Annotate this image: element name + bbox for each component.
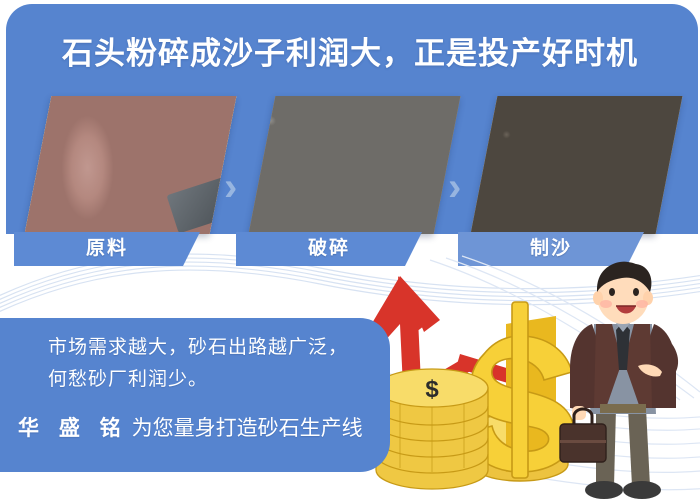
stage-photo-sand-making [471,96,683,234]
businessman-character [560,262,678,499]
finished-sand-photo [471,96,683,234]
copy-line-2: 何愁砂厂利润少。 [48,364,208,391]
svg-text:$: $ [425,376,439,403]
promo-banner: 石头粉碎成沙子利润大，正是投产好时机 › › 原料 破碎 制沙 [0,0,700,503]
stage-label-raw-material: 原料 [14,232,200,266]
crushed-gravel-photo [249,96,461,234]
prosperity-illustration: $ $ [360,258,700,503]
page-title: 石头粉碎成沙子利润大，正是投产好时机 [0,28,700,73]
chevron-right-icon: › [448,172,474,206]
brand-tagline: 华 盛 铭为您量身打造砂石生产线 [18,412,363,442]
chevron-right-icon: › [224,172,250,206]
stage-photo-crushing [249,96,461,234]
gold-coin-stack-front: $ [376,369,488,489]
process-photo-strip [0,96,700,242]
copy-line-1: 市场需求越大，砂石出路越广泛， [48,332,348,359]
tagline-text: 为您量身打造砂石生产线 [132,417,363,440]
river-pebbles-photo [25,96,237,234]
brand-name: 华 盛 铭 [18,417,132,440]
stage-photo-raw-material [25,96,237,234]
